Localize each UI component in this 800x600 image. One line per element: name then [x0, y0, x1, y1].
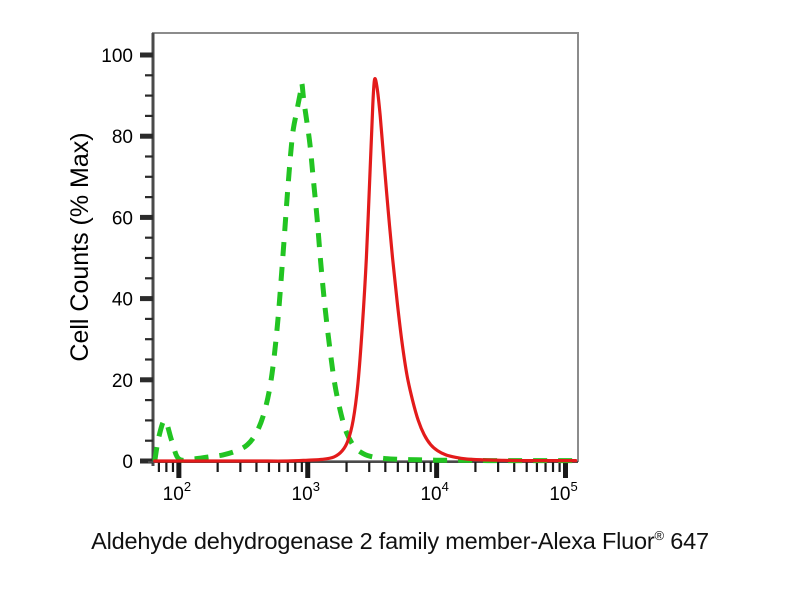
registered-trademark-symbol: ®: [655, 528, 664, 543]
x-tick-label: 105: [549, 479, 577, 505]
histogram-plot: 020406080100 102103104105 Cell Counts (%…: [0, 0, 800, 600]
y-tick-label: 100: [101, 46, 133, 67]
y-axis-title: Cell Counts (% Max): [66, 132, 94, 361]
y-tick-label: 80: [112, 127, 133, 148]
caption-suffix: 647: [664, 528, 709, 554]
y-tick-label: 0: [122, 452, 133, 473]
flow-cytometry-figure: 020406080100 102103104105 Cell Counts (%…: [0, 0, 800, 600]
y-tick-label: 20: [112, 371, 133, 392]
caption-prefix: Aldehyde dehydrogenase 2 family member-A…: [91, 528, 654, 554]
figure-caption: Aldehyde dehydrogenase 2 family member-A…: [0, 528, 800, 555]
y-axis: 020406080100: [101, 33, 153, 473]
x-axis: 102103104105: [148, 462, 578, 505]
y-tick-label: 60: [112, 208, 133, 229]
x-tick-label: 103: [292, 479, 320, 505]
y-tick-label: 40: [112, 290, 133, 311]
x-tick-label: 102: [163, 479, 191, 505]
x-tick-label: 104: [420, 479, 448, 505]
